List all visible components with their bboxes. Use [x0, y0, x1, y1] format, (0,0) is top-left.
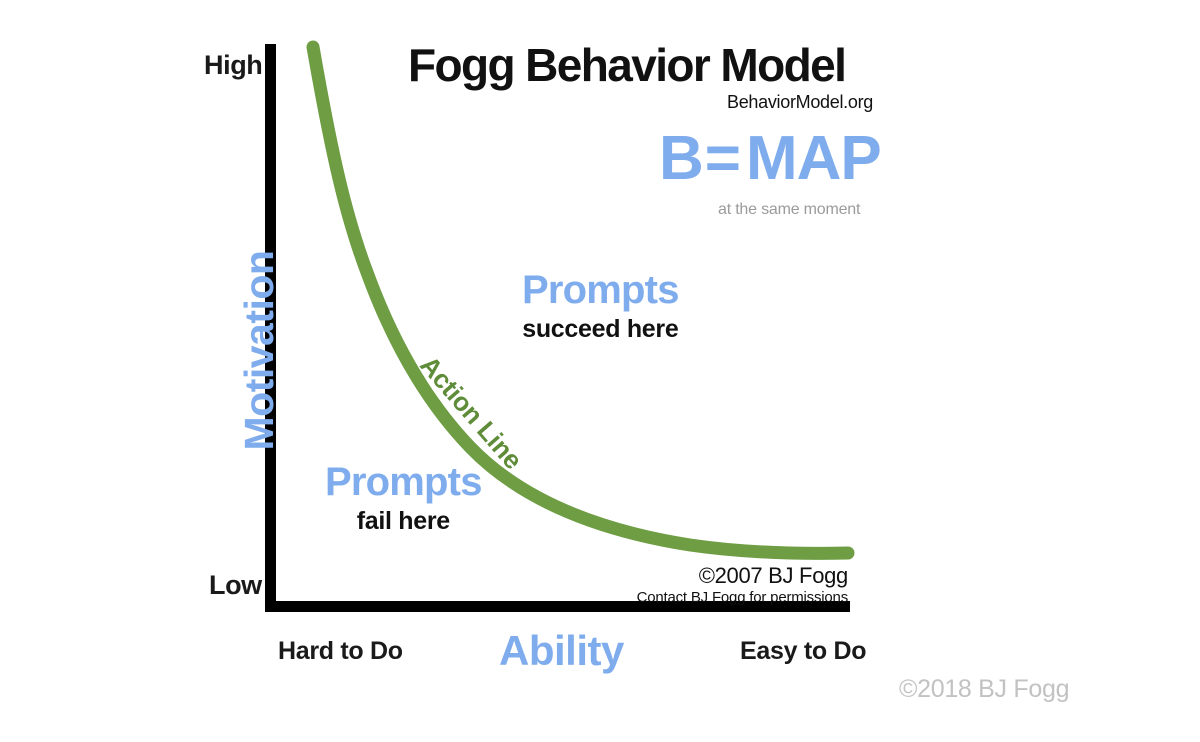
formula-right-term: MAP: [746, 124, 881, 193]
zone-fail-title: Prompts: [325, 462, 482, 502]
zone-succeed-subtitle: succeed here: [522, 317, 679, 342]
zone-prompts-succeed: Prompts succeed here: [522, 270, 679, 342]
fogg-behavior-model-diagram: High Low Motivation Hard to Do Ability E…: [0, 0, 1200, 742]
copyright-2018: ©2018 BJ Fogg: [899, 675, 1069, 704]
zone-succeed-title: Prompts: [522, 270, 679, 310]
zone-fail-subtitle: fail here: [325, 509, 482, 534]
source-url-label: BehaviorModel.org: [727, 92, 873, 113]
action-line-label: Action Line: [414, 350, 529, 476]
y-axis-title: Motivation: [236, 228, 283, 473]
x-axis-tick-easy: Easy to Do: [740, 637, 866, 666]
y-axis-tick-low: Low: [209, 570, 262, 601]
copyright-2007: ©2007 BJ Fogg: [593, 563, 848, 589]
zone-prompts-fail: Prompts fail here: [325, 462, 482, 534]
formula-caption: at the same moment: [718, 201, 860, 219]
x-axis-title: Ability: [499, 627, 624, 675]
formula-operator: =: [703, 128, 746, 190]
formula-b-map: B=MAP: [659, 128, 881, 190]
formula-left-term: B: [659, 124, 703, 193]
y-axis-tick-high: High: [204, 50, 262, 81]
x-axis-tick-hard: Hard to Do: [278, 637, 403, 666]
page-title: Fogg Behavior Model: [408, 38, 845, 92]
permissions-note: Contact BJ Fogg for permissions: [593, 589, 848, 606]
